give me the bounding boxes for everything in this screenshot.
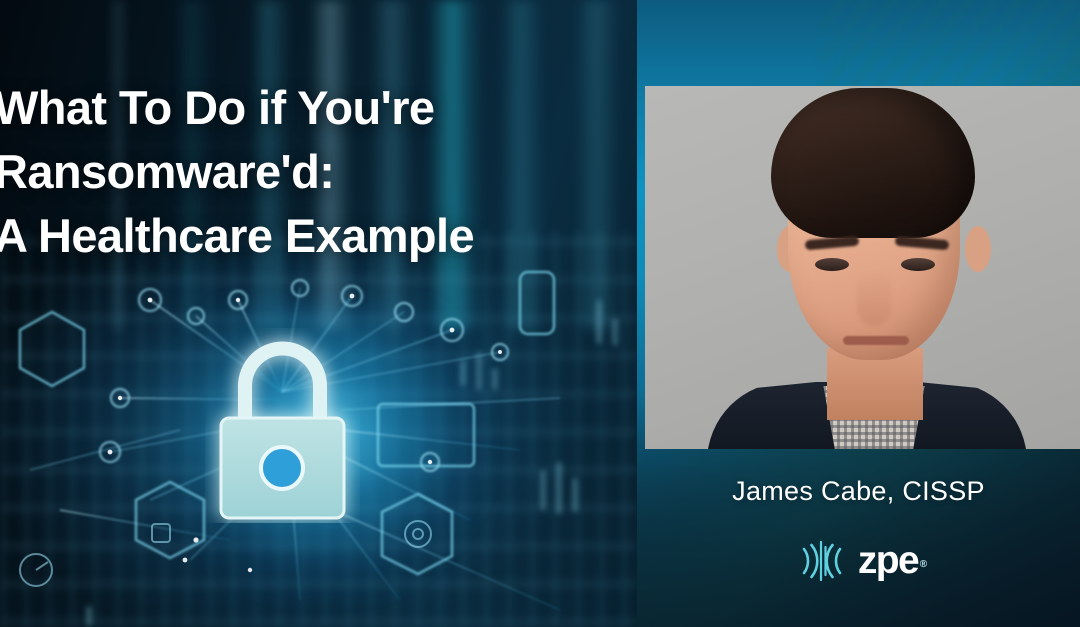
zpe-trademark-icon: ®: [920, 542, 927, 588]
presenter-photo: [645, 86, 1080, 449]
photo-hair: [771, 88, 975, 238]
title-line-1: What To Do if You're: [0, 76, 637, 140]
zpe-logo-mark: [799, 538, 845, 584]
padlock-icon: [205, 328, 360, 523]
photo-mouth: [843, 336, 909, 345]
zpe-logo: zpe®: [637, 538, 1080, 584]
page-title: What To Do if You're Ransomware'd: A Hea…: [0, 76, 637, 268]
title-card: What To Do if You're Ransomware'd: A Hea…: [0, 0, 1080, 627]
title-line-3: A Healthcare Example: [0, 204, 637, 268]
presenter-panel: James Cabe, CISSP zpe®: [637, 0, 1080, 627]
photo-eye-right: [901, 258, 935, 271]
title-line-2: Ransomware'd:: [0, 140, 637, 204]
presenter-name: James Cabe, CISSP: [637, 476, 1080, 507]
photo-ear-right: [965, 226, 991, 272]
photo-nose: [857, 272, 891, 326]
left-graphic-panel: What To Do if You're Ransomware'd: A Hea…: [0, 0, 637, 627]
photo-eye-left: [815, 258, 849, 271]
zpe-wordmark: zpe®: [858, 538, 918, 584]
